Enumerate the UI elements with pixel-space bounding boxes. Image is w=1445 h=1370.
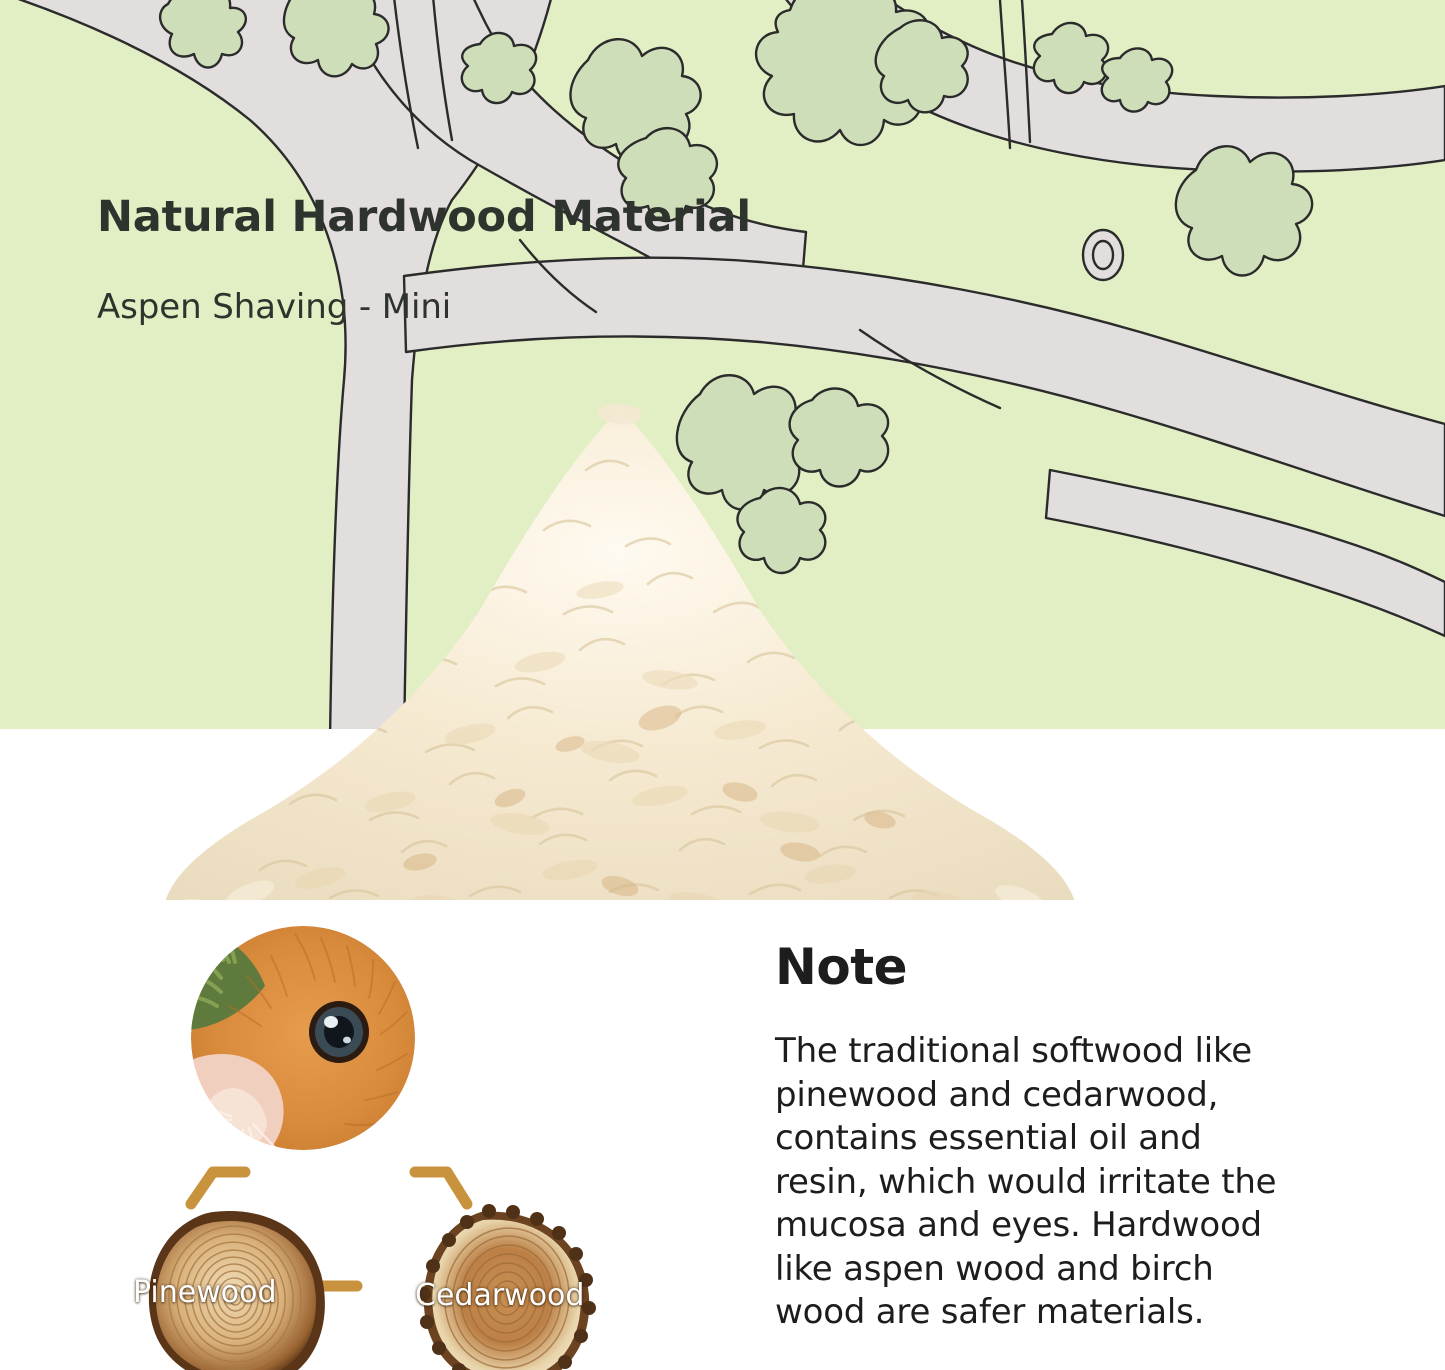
diagram-graphic bbox=[95, 920, 655, 1370]
shavings-pile-graphic bbox=[140, 400, 1100, 940]
note-line: like aspen wood and birch bbox=[775, 1248, 1305, 1292]
note-line: mucosa and eyes. Hardwood bbox=[775, 1204, 1305, 1248]
bottom-section: Pinewood Cedarwood Note The traditional … bbox=[0, 900, 1445, 1370]
page-title: Natural Hardwood Material bbox=[97, 196, 751, 239]
product-photo-shavings-pile bbox=[140, 400, 1100, 940]
page-subtitle: Aspen Shaving - Mini bbox=[97, 290, 451, 324]
note-line: resin, which would irritate the bbox=[775, 1161, 1305, 1205]
note-line: contains essential oil and bbox=[775, 1117, 1305, 1161]
pinewood-slice bbox=[149, 1211, 325, 1370]
cedarwood-slice bbox=[417, 1204, 596, 1370]
note-block: Note The traditional softwood like pinew… bbox=[775, 942, 1315, 1335]
infographic-page: Natural Hardwood Material Aspen Shaving … bbox=[0, 0, 1445, 1370]
hamster-photo bbox=[167, 926, 415, 1172]
note-line: pinewood and cedarwood, bbox=[775, 1074, 1305, 1118]
wood-comparison-diagram: Pinewood Cedarwood bbox=[95, 920, 655, 1370]
note-heading: Note bbox=[775, 942, 1315, 992]
note-line: The traditional softwood like bbox=[775, 1030, 1305, 1074]
note-paragraph: The traditional softwood like pinewood a… bbox=[775, 1030, 1305, 1335]
note-line: wood are safer materials. bbox=[775, 1291, 1305, 1335]
connector-arrows bbox=[191, 1172, 467, 1204]
